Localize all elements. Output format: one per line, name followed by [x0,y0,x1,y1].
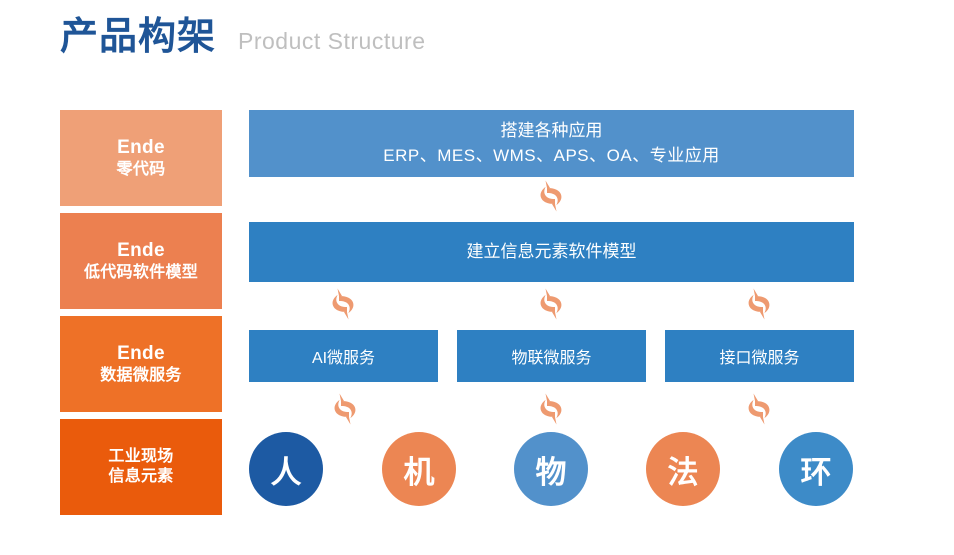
sync-exchange-icon [536,288,566,320]
layer-box-zero-code-line1: Ende [117,136,165,160]
element-circle-machine-label: 机 [404,447,435,492]
element-circle-environment[interactable]: 环 [779,432,853,506]
layer-box-data-microservice-line1: Ende [117,342,165,366]
banner-applications-line2: ERP、MES、WMS、APS、OA、专业应用 [383,144,719,169]
banner-applications-line1: 搭建各种应用 [501,119,603,144]
sync-exchange-icon [744,393,774,425]
microservice-box-iot[interactable]: 物联微服务 [457,330,646,382]
element-circle-material-label: 物 [536,447,567,492]
layer-box-low-code-model-line1: Ende [117,239,165,263]
page-subtitle: Product Structure [238,30,425,53]
sync-exchange-icon [744,288,774,320]
banner-information-element-model-label: 建立信息元素软件模型 [467,240,637,265]
element-circle-person-label: 人 [271,447,302,492]
layer-box-data-microservice-line2: 数据微服务 [100,366,182,386]
layer-stack: Ende 零代码 Ende 低代码软件模型 Ende 数据微服务 工业现场 信息… [60,110,222,508]
sync-exchange-icon [328,288,358,320]
element-circle-row: 人 机 物 法 环 [249,432,854,508]
microservice-box-interface[interactable]: 接口微服务 [665,330,854,382]
banner-information-element-model[interactable]: 建立信息元素软件模型 [249,222,854,282]
page-header: 产品构架 Product Structure [60,18,425,56]
layer-box-low-code-model-line2: 低代码软件模型 [84,263,198,283]
microservice-box-iot-label: 物联微服务 [511,344,591,368]
page-title: 产品构架 [60,18,216,56]
layer-box-industrial-site[interactable]: 工业现场 信息元素 [60,419,222,515]
banner-applications[interactable]: 搭建各种应用 ERP、MES、WMS、APS、OA、专业应用 [249,110,854,177]
sync-exchange-icon [536,180,566,212]
element-circle-machine[interactable]: 机 [382,432,456,506]
sync-exchange-icon [536,393,566,425]
layer-box-zero-code-line2: 零代码 [117,160,166,180]
layer-box-industrial-site-line1: 工业现场 [108,447,173,467]
microservice-row: AI微服务 物联微服务 接口微服务 [249,330,854,382]
element-circle-environment-label: 环 [801,447,832,492]
element-circle-method[interactable]: 法 [646,432,720,506]
slide-canvas: 产品构架 Product Structure Ende 零代码 Ende 低代码… [0,0,954,555]
layer-box-zero-code[interactable]: Ende 零代码 [60,110,222,206]
sync-exchange-icon [330,393,360,425]
layer-box-data-microservice[interactable]: Ende 数据微服务 [60,316,222,412]
layer-box-low-code-model[interactable]: Ende 低代码软件模型 [60,213,222,309]
microservice-box-ai[interactable]: AI微服务 [249,330,438,382]
layer-box-industrial-site-line2: 信息元素 [108,467,173,487]
element-circle-method-label: 法 [668,447,699,492]
microservice-box-ai-label: AI微服务 [312,344,375,368]
microservice-box-interface-label: 接口微服务 [719,344,799,368]
element-circle-person[interactable]: 人 [249,432,323,506]
element-circle-material[interactable]: 物 [514,432,588,506]
